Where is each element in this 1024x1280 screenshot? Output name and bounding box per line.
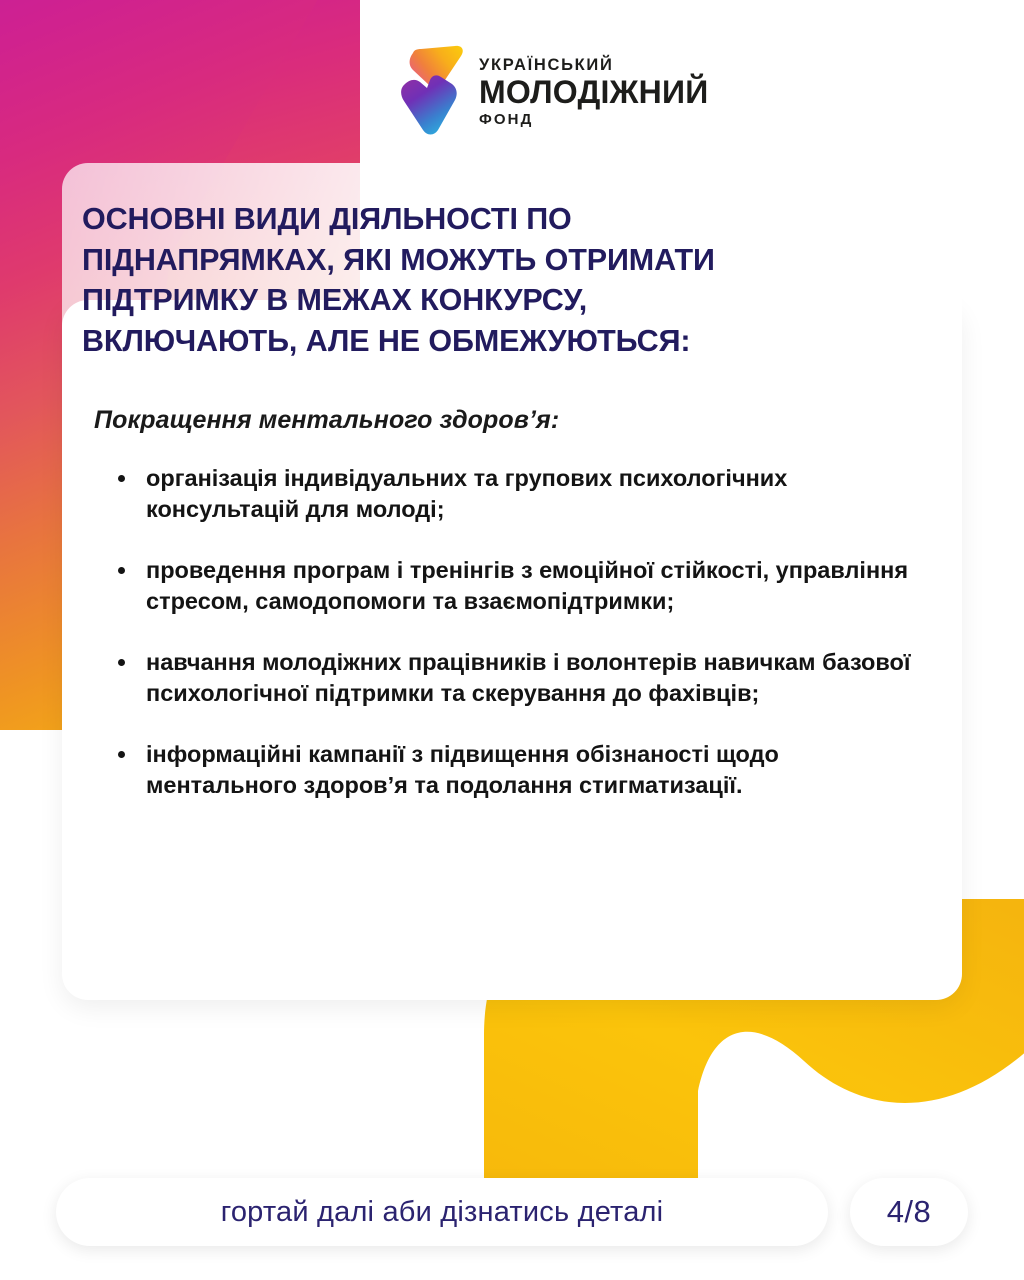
brand-line-foundation: ФОНД xyxy=(479,112,708,127)
content-card: Покращення ментального здоров’я: організ… xyxy=(62,300,962,1000)
brand-line-ukrainian: УКРАЇНСЬКИЙ xyxy=(479,57,708,74)
list-item: інформаційні кампанії з підвищення обізн… xyxy=(114,739,918,801)
page-title: ОСНОВНІ ВИДИ ДІЯЛЬНОСТІ ПО ПІДНАПРЯМКАХ,… xyxy=(82,199,922,361)
swipe-cta-label: гортай далі аби дізнатись деталі xyxy=(221,1196,664,1229)
bullet-dot-icon xyxy=(118,567,125,574)
swipe-cta-button[interactable]: гортай далі аби дізнатись деталі xyxy=(56,1178,828,1246)
bullet-dot-icon xyxy=(118,751,125,758)
header-banner-card: ОСНОВНІ ВИДИ ДІЯЛЬНОСТІ ПО ПІДНАПРЯМКАХ,… xyxy=(62,163,962,378)
footer-bar: гортай далі аби дізнатись деталі 4/8 xyxy=(56,1178,968,1246)
bullet-dot-icon xyxy=(118,475,125,482)
list-item-text: навчання молодіжних працівників і волонт… xyxy=(146,649,911,706)
brand-logo-lockup: УКРАЇНСЬКИЙ МОЛОДІЖНИЙ ФОНД xyxy=(396,44,708,140)
section-subtitle: Покращення ментального здоров’я: xyxy=(94,406,918,435)
ukrainian-youth-foundation-logo-mark xyxy=(396,44,468,140)
brand-logo-wordmark: УКРАЇНСЬКИЙ МОЛОДІЖНИЙ ФОНД xyxy=(479,57,708,128)
slide-canvas: УКРАЇНСЬКИЙ МОЛОДІЖНИЙ ФОНД Покращення м… xyxy=(0,0,1024,1280)
activities-bullet-list: організація індивідуальних та групових п… xyxy=(94,463,918,801)
bullet-dot-icon xyxy=(118,659,125,666)
page-counter-badge: 4/8 xyxy=(850,1178,968,1246)
page-counter-label: 4/8 xyxy=(887,1194,932,1230)
list-item-text: проведення програм і тренінгів з емоційн… xyxy=(146,557,908,614)
list-item-text: інформаційні кампанії з підвищення обізн… xyxy=(146,741,779,798)
list-item: навчання молодіжних працівників і волонт… xyxy=(114,647,918,709)
list-item-text: організація індивідуальних та групових п… xyxy=(146,465,787,522)
list-item: організація індивідуальних та групових п… xyxy=(114,463,918,525)
list-item: проведення програм і тренінгів з емоційн… xyxy=(114,555,918,617)
brand-line-youth: МОЛОДІЖНИЙ xyxy=(479,76,708,108)
